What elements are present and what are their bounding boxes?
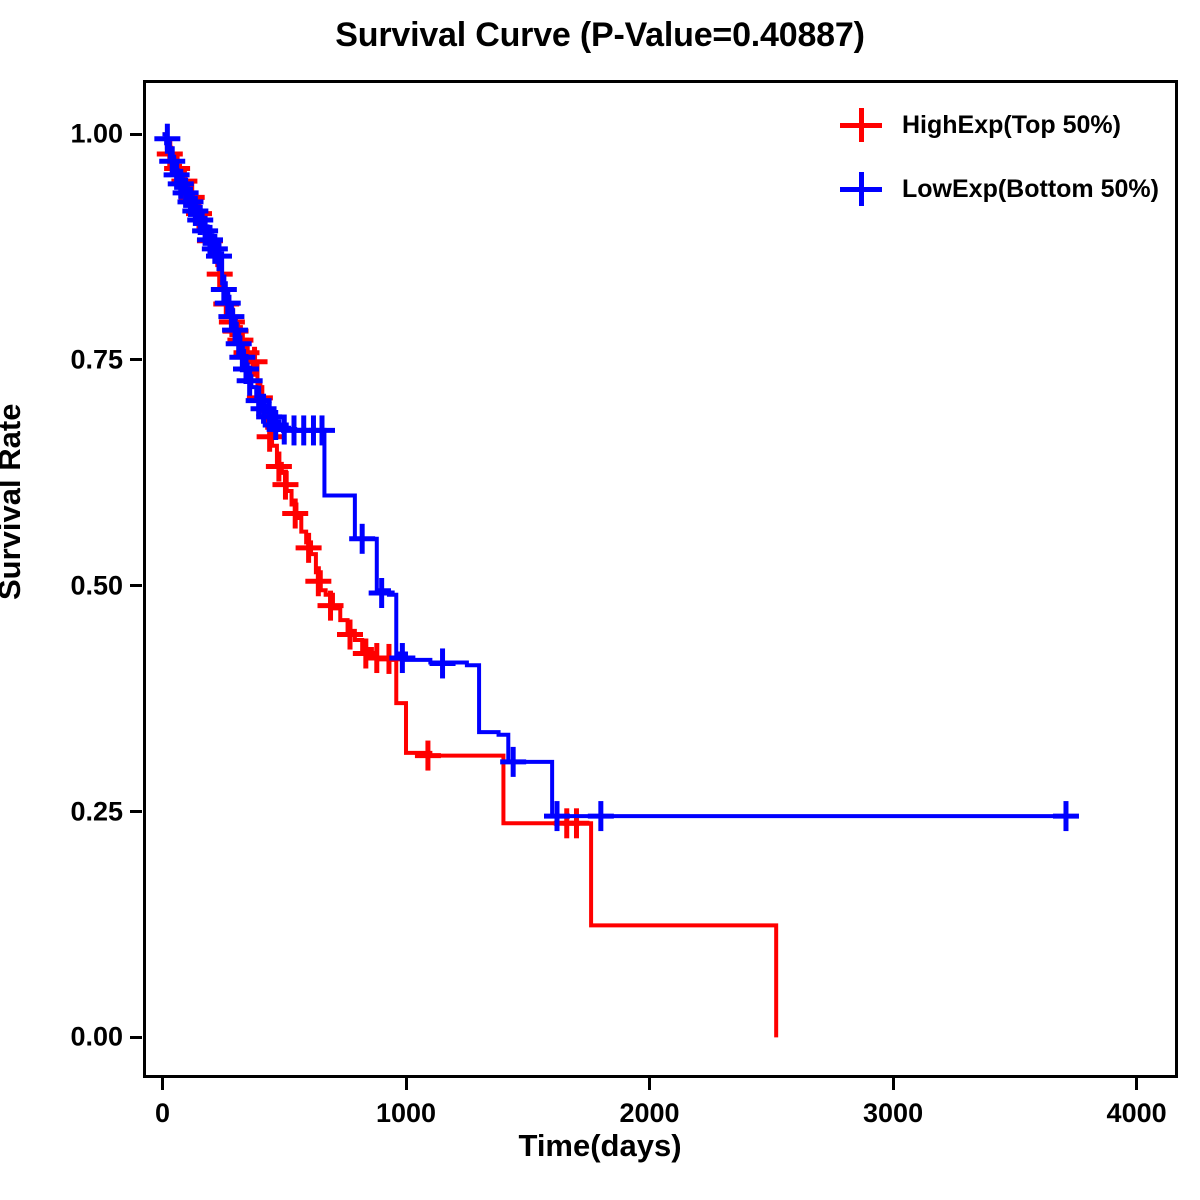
y-axis-tick-mark — [130, 358, 142, 361]
y-axis-tick-label: 0.00 — [18, 1022, 123, 1053]
y-axis-tick-mark — [130, 1036, 142, 1039]
x-axis-tick-label: 1000 — [376, 1098, 436, 1129]
censor-marks-group — [154, 124, 1079, 831]
plus-marker-icon — [840, 108, 882, 142]
page-title: Survival Curve (P-Value=0.40887) — [0, 16, 1200, 55]
x-axis-tick-mark — [892, 1078, 895, 1090]
x-axis-tick-mark — [648, 1078, 651, 1090]
y-axis-tick-mark — [130, 810, 142, 813]
legend-item-low-exp[interactable]: LowExp(Bottom 50%) — [840, 172, 1159, 206]
survival-curve-figure: Survival Curve (P-Value=0.40887) Surviva… — [0, 0, 1200, 1200]
x-axis-label: Time(days) — [0, 1128, 1200, 1164]
x-axis-tick-mark — [1135, 1078, 1138, 1090]
x-axis-tick-label: 0 — [155, 1098, 170, 1129]
x-axis-tick-label: 3000 — [863, 1098, 923, 1129]
x-axis-tick-label: 2000 — [619, 1098, 679, 1129]
legend-label-high-exp: HighExp(Top 50%) — [902, 111, 1121, 140]
censor-marks-group — [157, 139, 590, 838]
y-axis-tick-label: 0.50 — [18, 570, 123, 601]
plot-area — [143, 80, 1178, 1078]
x-axis-tick-mark — [161, 1078, 164, 1090]
x-axis-tick-mark — [405, 1078, 408, 1090]
survival-step-line — [162, 134, 1065, 816]
survival-step-line — [162, 134, 776, 1037]
plus-marker-icon — [840, 172, 882, 206]
legend-item-high-exp[interactable]: HighExp(Top 50%) — [840, 108, 1159, 142]
legend: HighExp(Top 50%) LowExp(Bottom 50%) — [840, 108, 1159, 206]
y-axis-tick-mark — [130, 133, 142, 136]
x-axis-tick-label: 4000 — [1107, 1098, 1167, 1129]
plot-svg — [143, 80, 1178, 1078]
y-axis-tick-label: 1.00 — [18, 119, 123, 150]
y-axis-tick-label: 0.25 — [18, 796, 123, 827]
y-axis-tick-mark — [130, 584, 142, 587]
y-axis-tick-label: 0.75 — [18, 344, 123, 375]
legend-label-low-exp: LowExp(Bottom 50%) — [902, 175, 1159, 204]
